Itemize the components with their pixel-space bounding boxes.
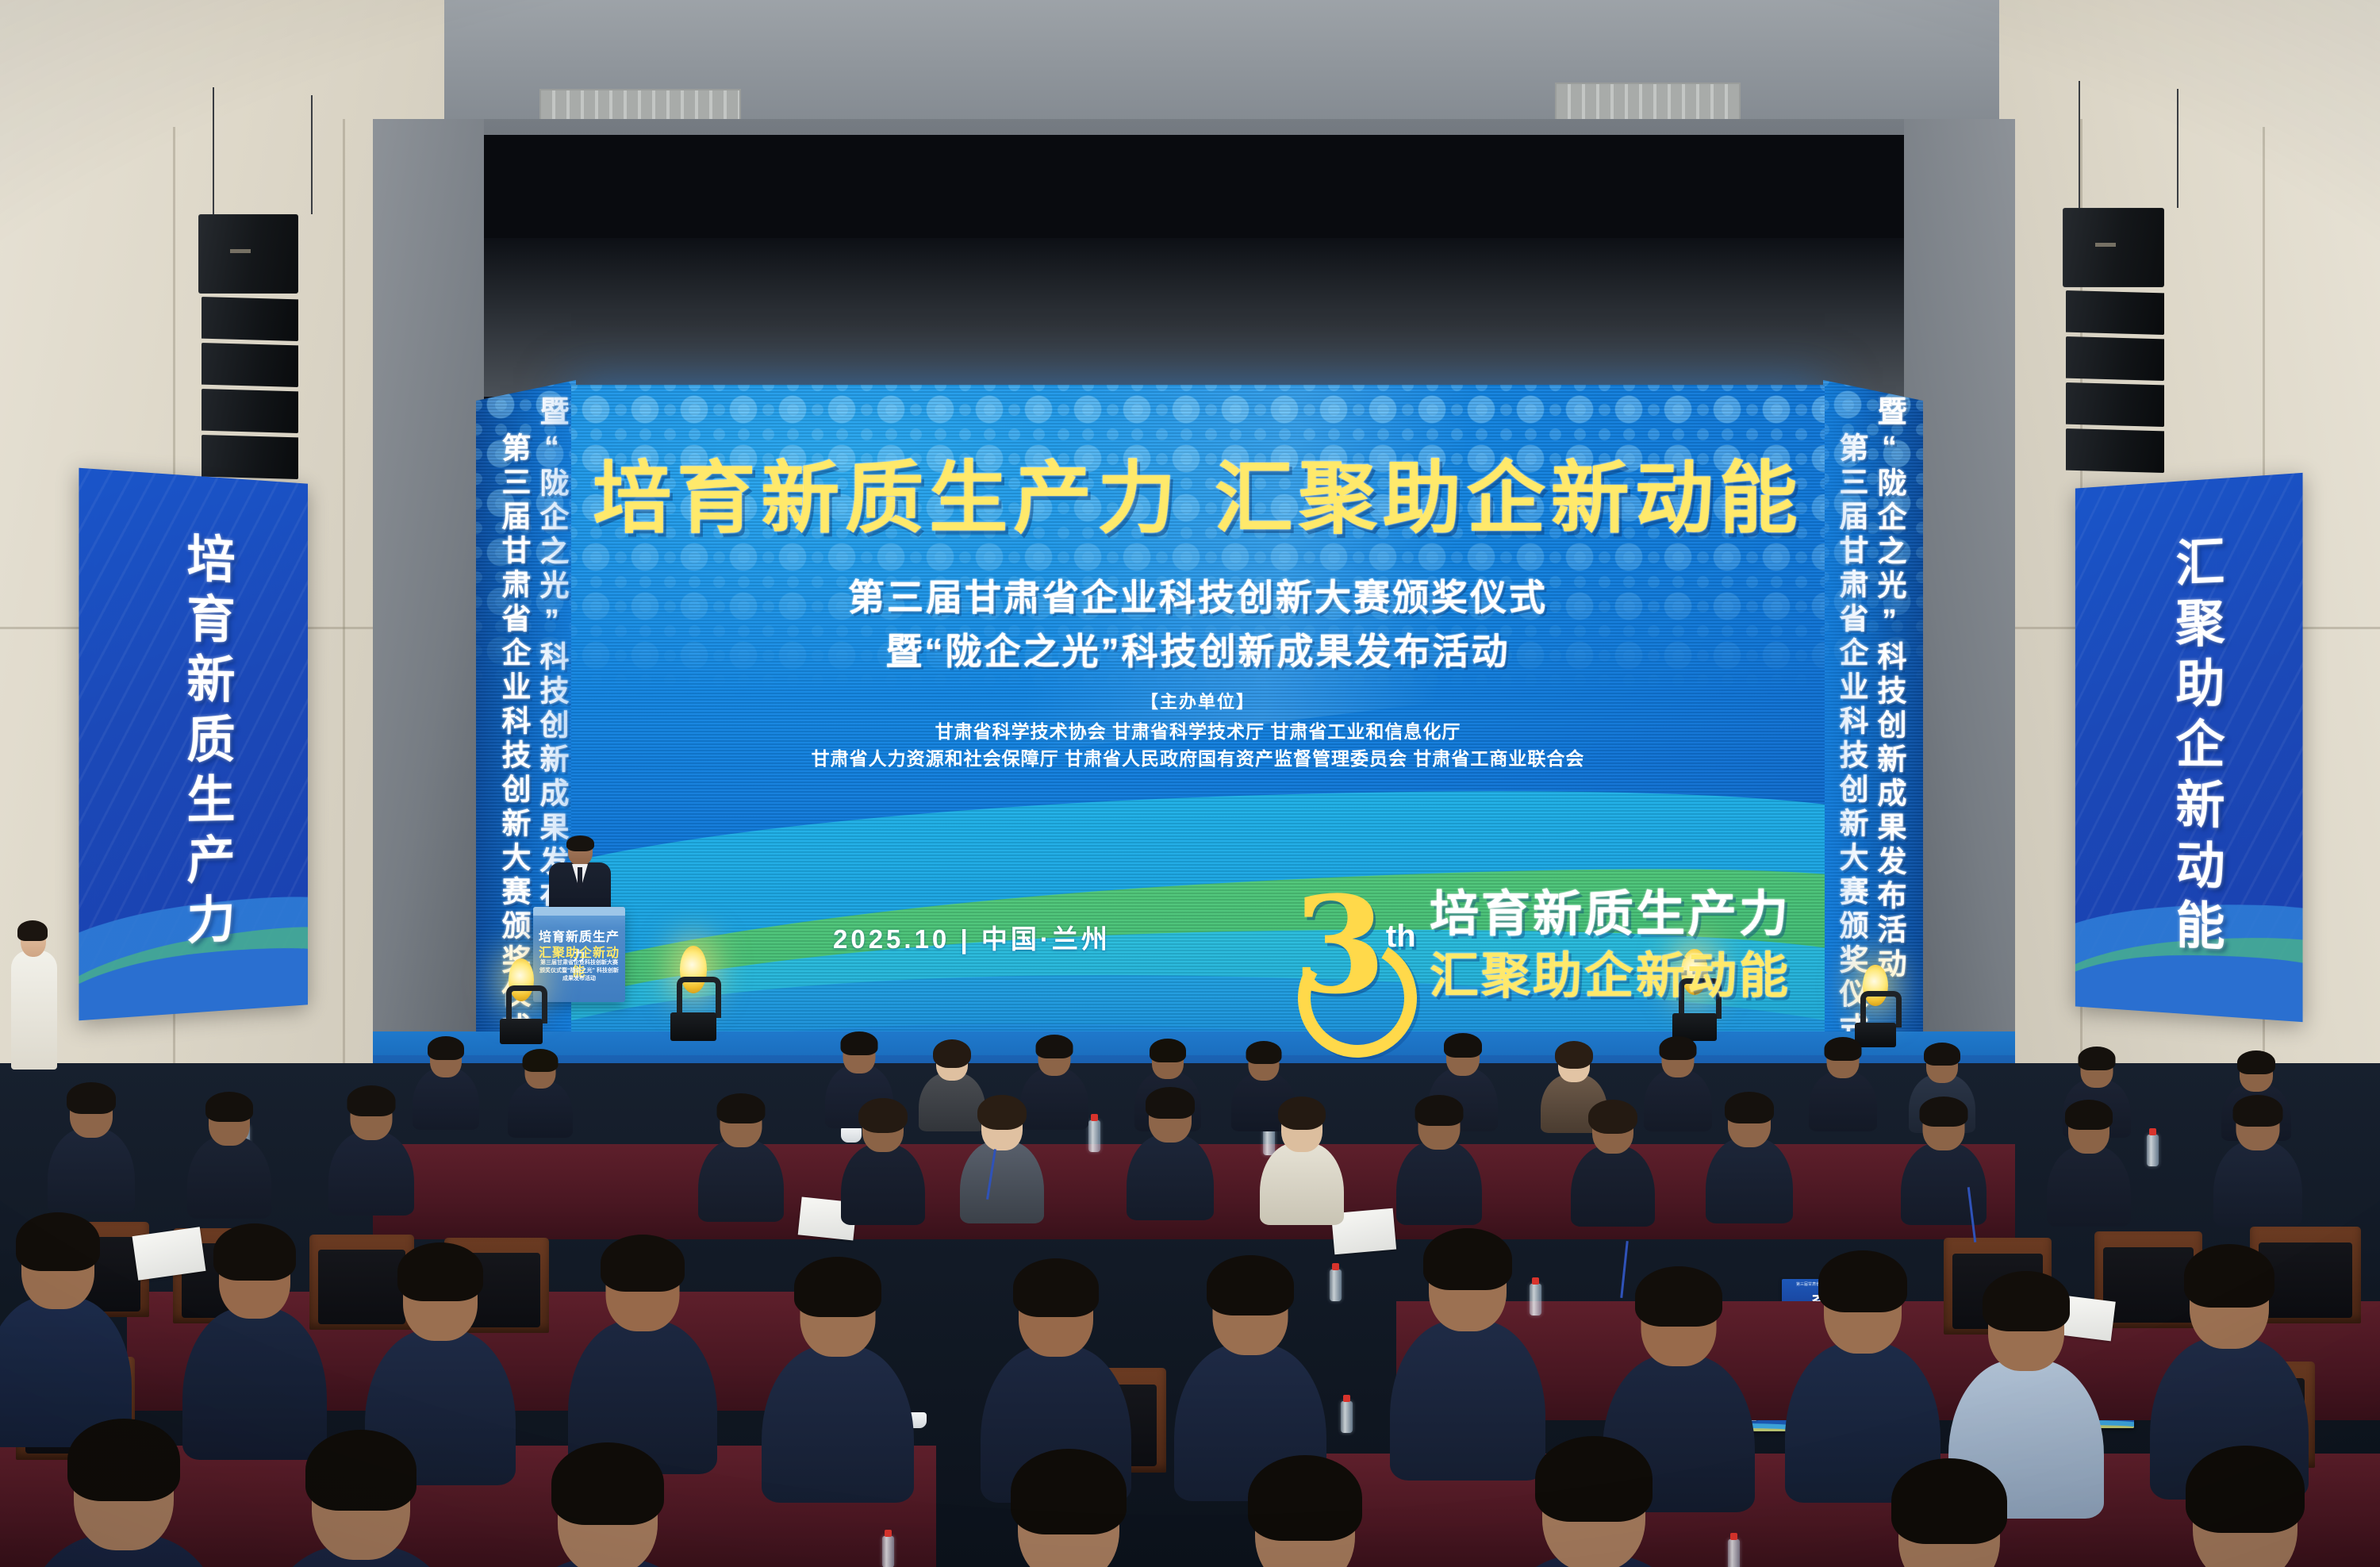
audience-member — [568, 1227, 717, 1468]
audience-member — [2142, 1446, 2348, 1567]
water-bottle — [1728, 1539, 1740, 1567]
audience-member — [968, 1449, 1169, 1567]
audience-member — [2213, 1089, 2302, 1223]
emblem-slogan-line-2: 汇聚助企新动能 — [1430, 935, 1791, 1007]
organizer-line-2: 甘肃省人力资源和社会保障厅 甘肃省人民政府国有资产监督管理委员会 甘肃省工商业联… — [571, 743, 1825, 770]
emblem-slogan-line-1: 培育新质生产力 — [1430, 874, 1791, 945]
audience-member — [262, 1428, 460, 1567]
organizer-header: 【主办单位】 — [571, 688, 1825, 713]
wall-poster-right: 汇聚助企新动能 — [2075, 473, 2303, 1022]
audience-member — [1901, 1090, 1987, 1222]
event-subtitle-1: 第三届甘肃省企业科技创新大赛颁奖仪式 — [571, 569, 1825, 621]
audience-member — [1206, 1457, 1404, 1567]
led-wall-right-wing: 暨“陇企之光”科技创新成果发布活动 第三届甘肃省企业科技创新大赛颁奖仪式 — [1823, 380, 1923, 1064]
proscenium-left-pillar — [373, 119, 484, 1055]
water-bottle — [1330, 1269, 1342, 1301]
stage-dark-backdrop-lower — [476, 238, 1920, 397]
water-bottle — [882, 1536, 894, 1567]
water-bottle — [2147, 1135, 2159, 1166]
conference-hall-photo: 培育新质生产力 汇聚助企新动能 暨“陇企之光”科技创新成果发布活动 第三届甘肃省… — [0, 0, 2380, 1567]
audience-member — [841, 1093, 925, 1222]
audience-member — [1848, 1460, 2050, 1567]
audience-member — [1260, 1092, 1344, 1222]
moving-head-light-left — [500, 958, 543, 1044]
line-array-speaker-right — [2063, 208, 2205, 478]
audience-member — [413, 1030, 479, 1125]
led-wing-right-text-inner: 第三届甘肃省企业科技创新大赛颁奖仪式 — [1829, 432, 1872, 1047]
audience-member — [2047, 1095, 2131, 1223]
audience-member — [0, 1203, 132, 1441]
wall-poster-left-text: 培育新质生产力 — [172, 530, 242, 954]
audience-member — [508, 1044, 573, 1133]
audience-member — [48, 1076, 135, 1211]
audience-member — [328, 1079, 414, 1212]
audience-member — [1785, 1244, 1940, 1496]
led-wing-right-text-outer: 暨“陇企之光”科技创新成果发布活动 — [1868, 396, 1910, 982]
organizer-line-1: 甘肃省科学技术协会 甘肃省科学技术厅 甘肃省工业和信息化厅 — [571, 716, 1825, 743]
wall-poster-left: 培育新质生产力 — [79, 468, 308, 1021]
event-date-location: 2025.10 | 中国·兰州 — [833, 918, 1111, 956]
audience-member — [1396, 1089, 1482, 1222]
water-bottle — [1088, 1120, 1100, 1152]
hostess-standing — [0, 911, 63, 1070]
audience-member — [1706, 1085, 1793, 1220]
event-subtitle-2: 暨“陇企之光”科技创新成果发布活动 — [571, 623, 1825, 675]
line-array-speaker-left — [198, 214, 341, 484]
audience-member — [508, 1442, 708, 1567]
led-wall-main-panel: 培育新质生产力 汇聚助企新动能 第三届甘肃省企业科技创新大赛颁奖仪式 暨“陇企之… — [571, 385, 1825, 1059]
audience-member — [187, 1085, 271, 1216]
audience-member — [24, 1415, 224, 1567]
audience-member — [1127, 1081, 1214, 1217]
led-wing-left-text-inner: 第三届甘肃省企业科技创新大赛颁奖仪式 — [492, 432, 535, 1047]
third-edition-emblem: 3th 培育新质生产力 汇聚助企新动能 — [1293, 872, 1817, 1023]
led-video-wall: 暨“陇企之光”科技创新成果发布活动 第三届甘肃省企业科技创新大赛颁奖仪式 暨“陇… — [476, 385, 1928, 1079]
event-main-title: 培育新质生产力 汇聚助企新动能 — [571, 459, 1825, 540]
audience-member — [960, 1090, 1044, 1220]
water-bottle — [1341, 1401, 1353, 1433]
audience-member — [698, 1087, 784, 1219]
wall-poster-right-text: 汇聚助企新动能 — [2161, 534, 2232, 961]
audience-member — [1491, 1434, 1696, 1567]
audience-member — [762, 1249, 914, 1496]
audience-member — [1571, 1095, 1655, 1223]
wall-seam — [343, 119, 345, 1071]
